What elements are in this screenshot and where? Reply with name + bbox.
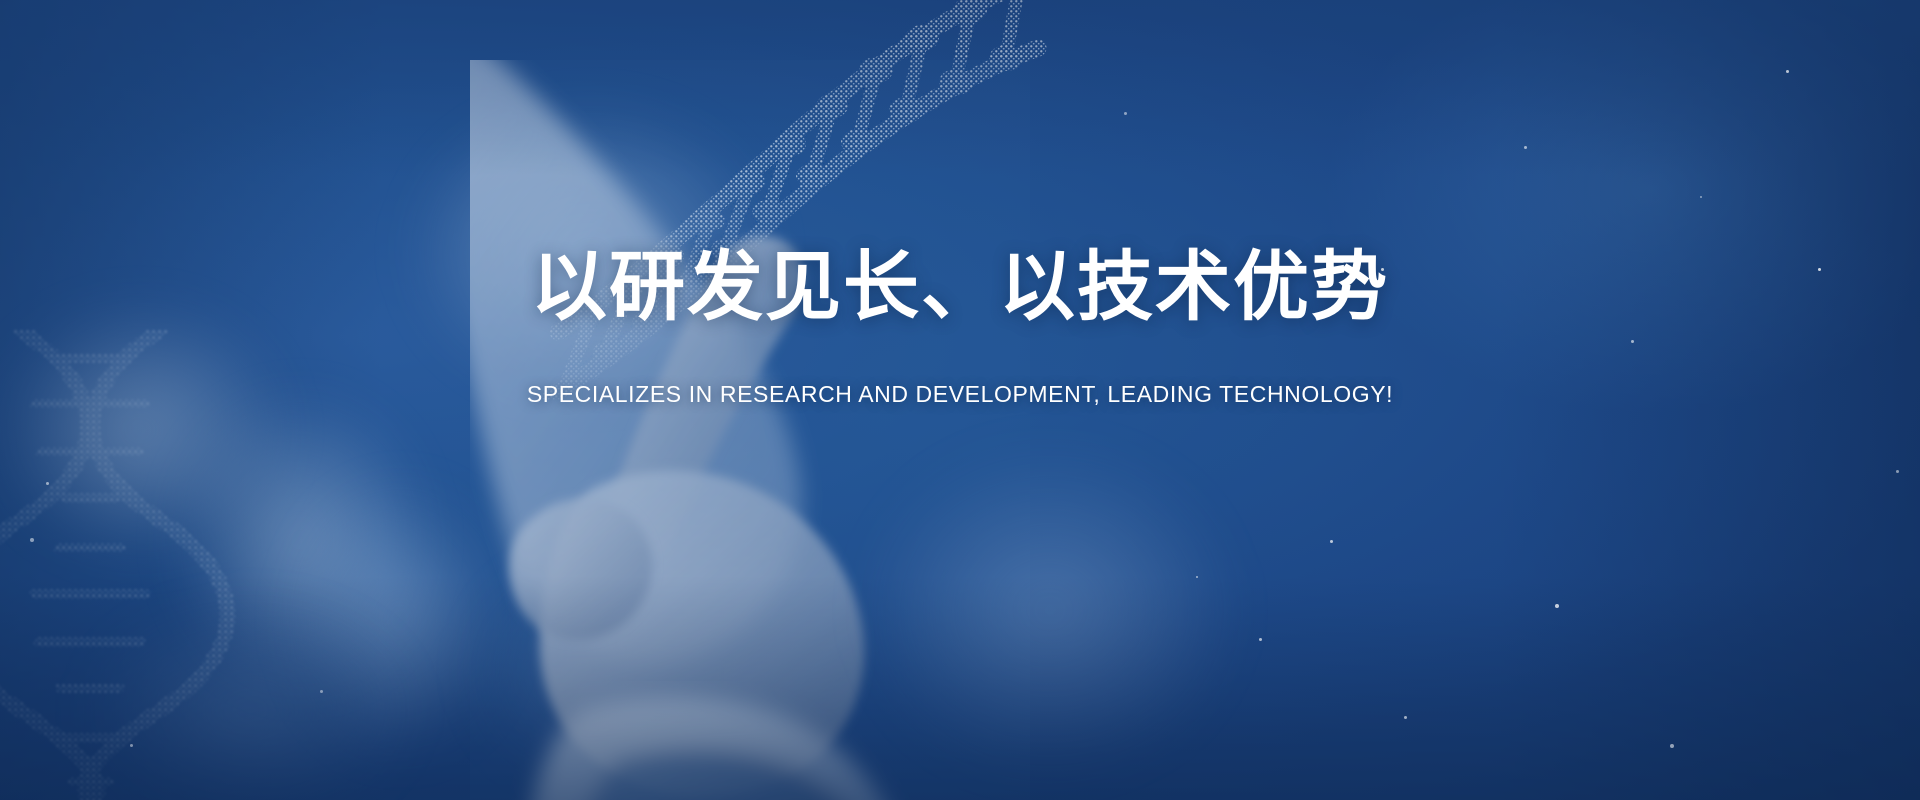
background-vignette — [0, 0, 1920, 800]
hero-banner: 以研发见长、以技术优势 SPECIALIZES IN RESEARCH AND … — [0, 0, 1920, 800]
